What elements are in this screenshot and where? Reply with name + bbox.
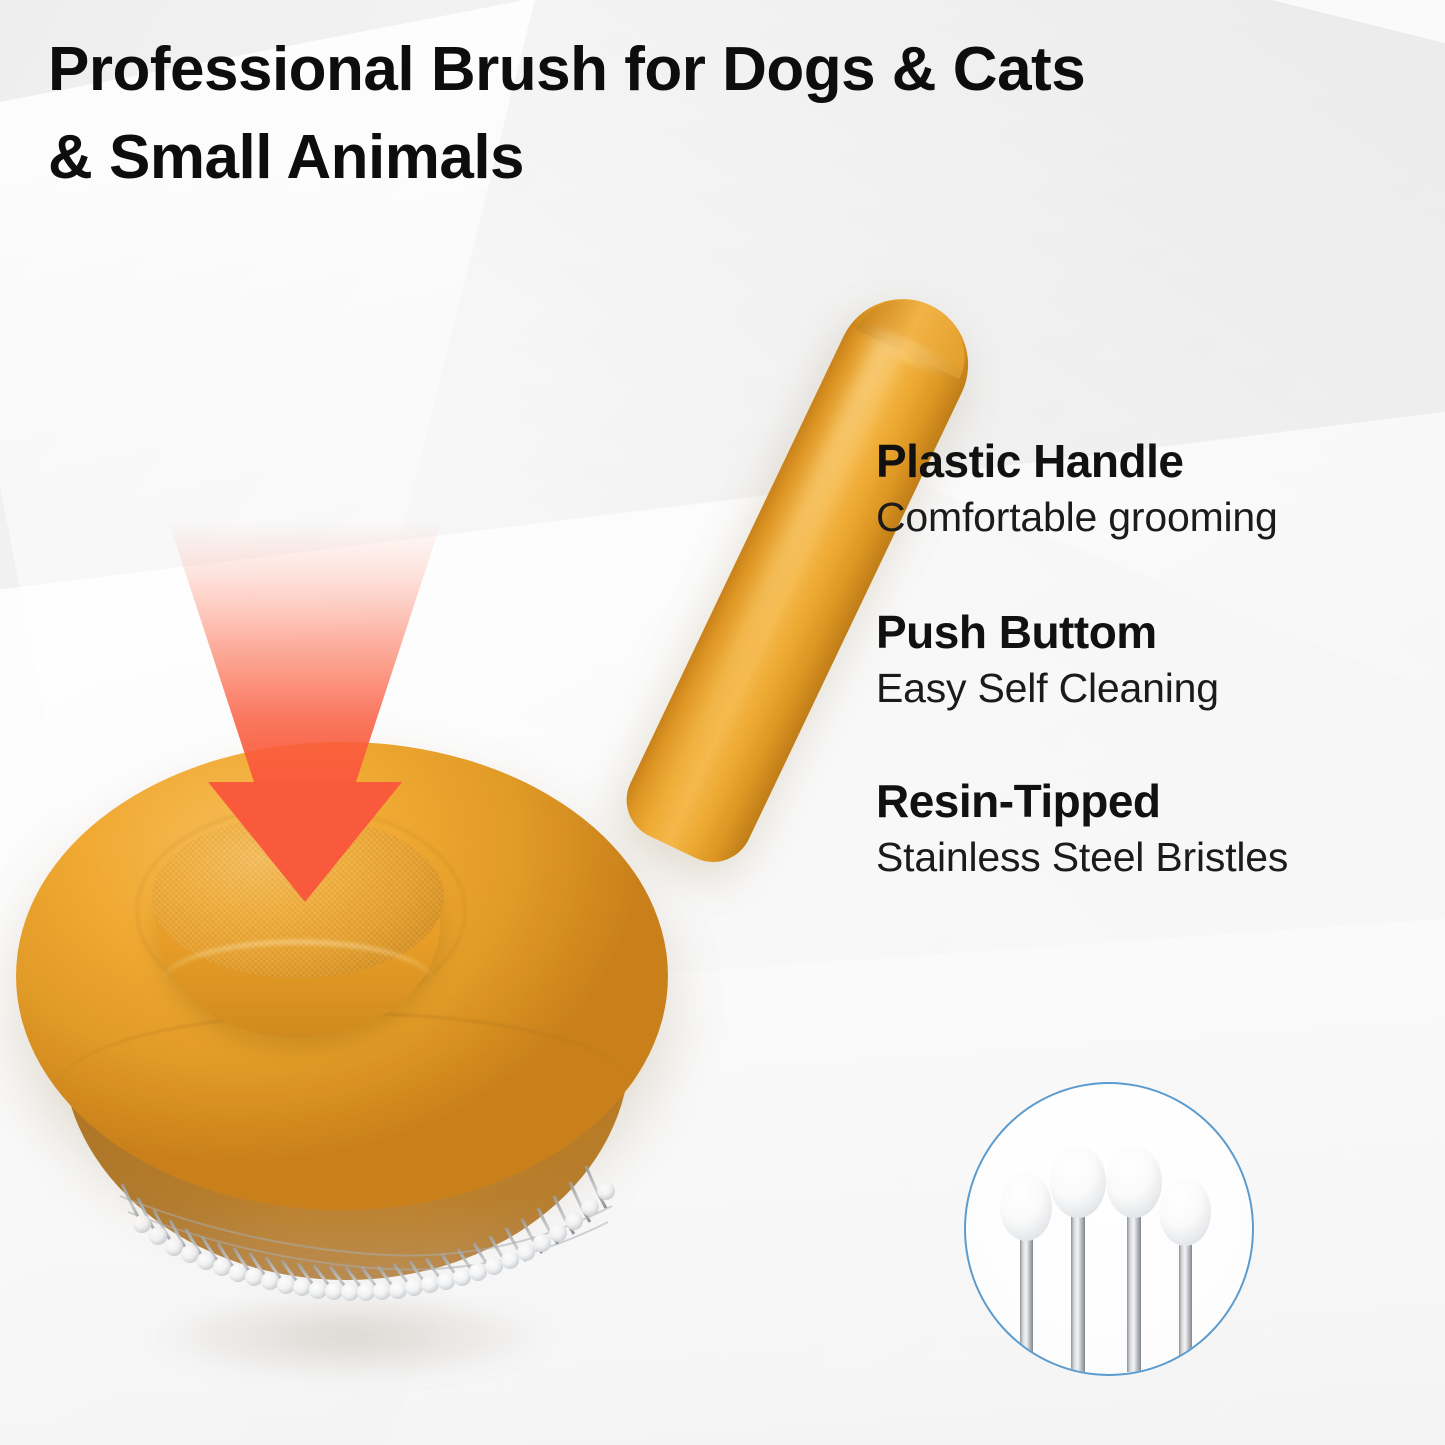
floor-shadow [70, 1276, 630, 1396]
feature-subtitle: Comfortable grooming [876, 492, 1416, 543]
feature-title: Resin-Tipped [876, 774, 1416, 828]
feature-subtitle: Easy Self Cleaning [876, 663, 1416, 714]
feature-item-push-button: Push Buttom Easy Self Cleaning [876, 605, 1416, 714]
brush-head-rim-seam [58, 1012, 634, 1165]
handle-highlight [651, 331, 902, 819]
feature-title: Push Buttom [876, 605, 1416, 659]
feature-subtitle: Stainless Steel Bristles [876, 832, 1416, 883]
product-image [0, 0, 900, 1445]
press-down-arrow-icon [140, 520, 470, 905]
feature-item-resin-tipped: Resin-Tipped Stainless Steel Bristles [876, 774, 1416, 883]
product-infographic: Professional Brush for Dogs & Cats & Sma… [0, 0, 1445, 1445]
feature-item-plastic-handle: Plastic Handle Comfortable grooming [876, 434, 1416, 543]
resin-tip-detail-circle [964, 1082, 1254, 1376]
feature-title: Plastic Handle [876, 434, 1416, 488]
feature-list: Plastic Handle Comfortable grooming Push… [876, 434, 1416, 883]
push-button-edge-highlight [162, 940, 434, 1028]
